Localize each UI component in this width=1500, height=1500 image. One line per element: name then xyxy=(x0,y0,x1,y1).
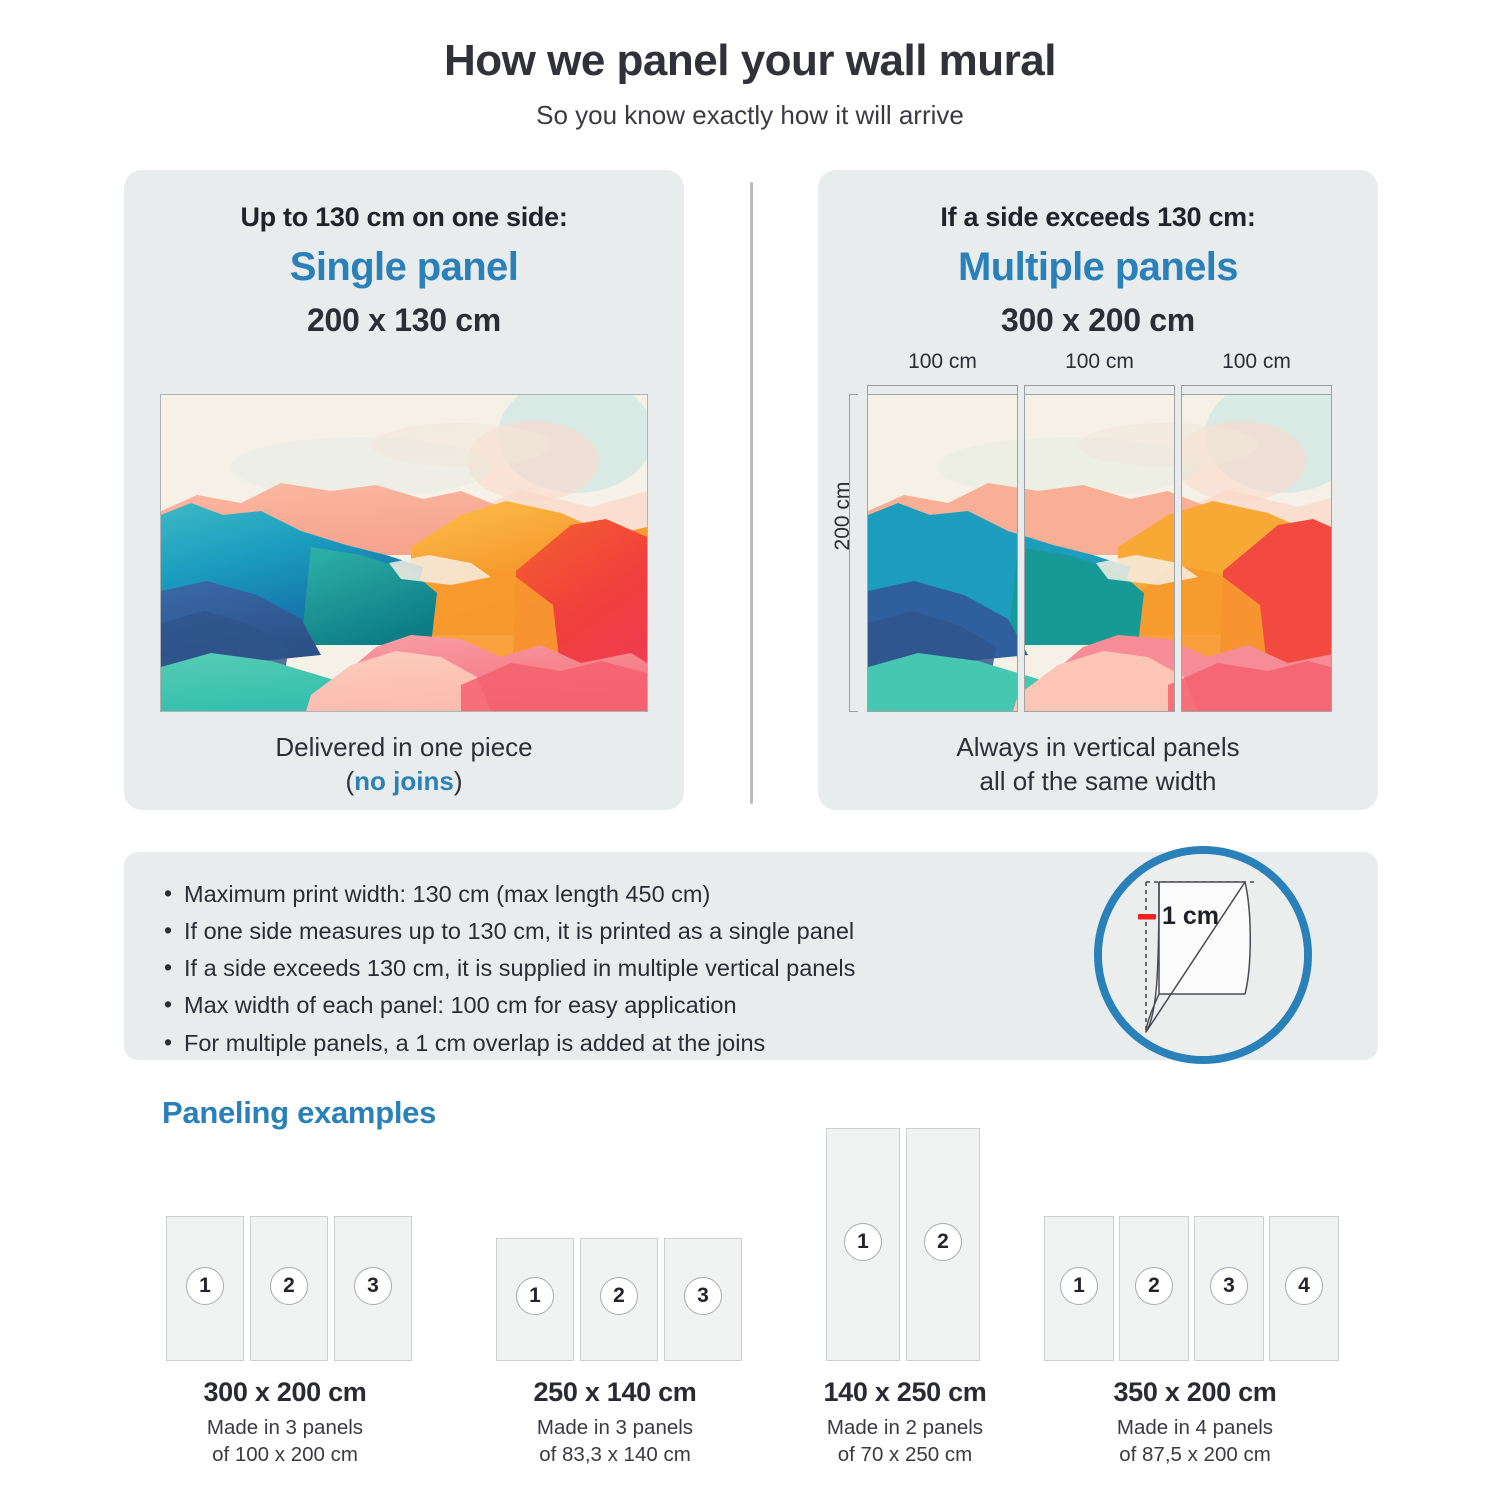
page-title: How we panel your wall mural xyxy=(0,36,1500,86)
mural-panel-2 xyxy=(1024,394,1175,712)
width-bracket-1 xyxy=(867,385,1018,394)
panel-number-badge: 2 xyxy=(924,1223,962,1261)
example-3-made-line1: Made in 2 panels xyxy=(827,1416,983,1439)
panel-number-badge: 2 xyxy=(600,1277,638,1315)
note-item: For multiple panels, a 1 cm overlap is a… xyxy=(160,1025,855,1062)
example-3-panels: 1 2 xyxy=(760,1128,1050,1361)
example-4-made-line2: of 87,5 x 200 cm xyxy=(1119,1443,1271,1466)
multi-panel-caption-line1: Always in vertical panels xyxy=(956,732,1239,762)
panel-number-badge: 1 xyxy=(1060,1267,1098,1305)
note-item: Maximum print width: 130 cm (max length … xyxy=(160,876,855,913)
width-label-3: 100 cm xyxy=(1181,350,1332,374)
width-label-1: 100 cm xyxy=(867,350,1018,374)
example-2-made-line1: Made in 3 panels xyxy=(537,1416,693,1439)
example-4-panel-1: 1 xyxy=(1044,1216,1114,1361)
multi-panel-accent-label: Multiple panels xyxy=(818,245,1378,290)
card-multiple-panels: If a side exceeds 130 cm: Multiple panel… xyxy=(818,170,1378,810)
mural-panel-3 xyxy=(1181,394,1332,712)
single-panel-caption: Delivered in one piece (no joins) xyxy=(124,730,684,799)
single-panel-caption-line1: Delivered in one piece xyxy=(275,732,532,762)
example-4-detail: Made in 4 panels of 87,5 x 200 cm xyxy=(1040,1414,1350,1469)
example-250x140: 1 2 3 250 x 140 cm Made in 3 panels of 8… xyxy=(470,1238,760,1469)
note-item: If one side measures up to 130 cm, it is… xyxy=(160,913,855,950)
example-1-panels: 1 2 3 xyxy=(140,1216,430,1361)
example-3-panel-2: 2 xyxy=(906,1128,980,1361)
mural-artwork-svg xyxy=(161,395,647,711)
panel-number-badge: 4 xyxy=(1285,1267,1323,1305)
caption-paren-close: ) xyxy=(454,766,463,796)
multi-panel-caption-line2: all of the same width xyxy=(979,766,1216,796)
example-4-panel-4: 4 xyxy=(1269,1216,1339,1361)
example-140x250: 1 2 140 x 250 cm Made in 2 panels of 70 … xyxy=(760,1128,1050,1469)
multi-panel-mural-group: 200 cm 100 cm 100 cm 100 cm xyxy=(867,394,1332,712)
panel-number-badge: 2 xyxy=(1135,1267,1173,1305)
panel-number-badge: 1 xyxy=(844,1223,882,1261)
example-4-panel-3: 3 xyxy=(1194,1216,1264,1361)
note-item: Max width of each panel: 100 cm for easy… xyxy=(160,987,855,1024)
example-2-panel-3: 3 xyxy=(664,1238,742,1361)
example-1-made-line1: Made in 3 panels xyxy=(207,1416,363,1439)
height-label: 200 cm xyxy=(831,466,855,566)
example-3-made-line2: of 70 x 250 cm xyxy=(838,1443,972,1466)
example-4-made-line1: Made in 4 panels xyxy=(1117,1416,1273,1439)
panel-number-badge: 2 xyxy=(270,1267,308,1305)
panel-number-badge: 3 xyxy=(1210,1267,1248,1305)
example-2-made-line2: of 83,3 x 140 cm xyxy=(539,1443,691,1466)
multi-panel-heading: If a side exceeds 130 cm: xyxy=(818,202,1378,233)
panel-number-badge: 1 xyxy=(186,1267,224,1305)
example-4-panel-2: 2 xyxy=(1119,1216,1189,1361)
overlap-label-text: 1 cm xyxy=(1162,902,1219,930)
example-2-panel-2: 2 xyxy=(580,1238,658,1361)
infographic-page: How we panel your wall mural So you know… xyxy=(0,0,1500,1500)
single-panel-heading: Up to 130 cm on one side: xyxy=(124,202,684,233)
overlap-illustration-svg: 1 cm xyxy=(1102,854,1304,1056)
example-2-panels: 1 2 3 xyxy=(470,1238,760,1361)
single-panel-accent-label: Single panel xyxy=(124,245,684,290)
example-3-size: 140 x 250 cm xyxy=(760,1377,1050,1408)
paneling-examples-title: Paneling examples xyxy=(162,1095,436,1131)
example-1-size: 300 x 200 cm xyxy=(140,1377,430,1408)
mural-panel-1 xyxy=(867,394,1018,712)
example-3-panel-1: 1 xyxy=(826,1128,900,1361)
example-350x200: 1 2 3 4 350 x 200 cm Made in 4 panels of… xyxy=(1040,1216,1350,1469)
example-2-size: 250 x 140 cm xyxy=(470,1377,760,1408)
example-1-made-line2: of 100 x 200 cm xyxy=(212,1443,358,1466)
example-2-detail: Made in 3 panels of 83,3 x 140 cm xyxy=(470,1414,760,1469)
page-subtitle: So you know exactly how it will arrive xyxy=(0,100,1500,131)
example-3-detail: Made in 2 panels of 70 x 250 cm xyxy=(760,1414,1050,1469)
example-1-panel-1: 1 xyxy=(166,1216,244,1361)
example-1-detail: Made in 3 panels of 100 x 200 cm xyxy=(140,1414,430,1469)
example-2-panel-1: 1 xyxy=(496,1238,574,1361)
multi-panel-caption: Always in vertical panels all of the sam… xyxy=(818,730,1378,799)
note-item: If a side exceeds 130 cm, it is supplied… xyxy=(160,950,855,987)
example-1-panel-3: 3 xyxy=(334,1216,412,1361)
panel-number-badge: 3 xyxy=(354,1267,392,1305)
card-single-panel: Up to 130 cm on one side: Single panel 2… xyxy=(124,170,684,810)
single-panel-dimensions: 200 x 130 cm xyxy=(124,302,684,339)
caption-paren-open: ( xyxy=(345,766,354,796)
panel-number-badge: 3 xyxy=(684,1277,722,1315)
example-1-panel-2: 2 xyxy=(250,1216,328,1361)
overlap-red-marker xyxy=(1138,914,1156,920)
width-bracket-2 xyxy=(1024,385,1175,394)
single-panel-mural-image xyxy=(160,394,648,712)
width-label-2: 100 cm xyxy=(1024,350,1175,374)
width-bracket-3 xyxy=(1181,385,1332,394)
example-300x200: 1 2 3 300 x 200 cm Made in 3 panels of 1… xyxy=(140,1216,430,1469)
single-panel-caption-highlight: no joins xyxy=(354,766,454,796)
example-4-panels: 1 2 3 4 xyxy=(1040,1216,1350,1361)
notes-list: Maximum print width: 130 cm (max length … xyxy=(160,876,855,1062)
card-divider xyxy=(750,182,753,804)
example-4-size: 350 x 200 cm xyxy=(1040,1377,1350,1408)
overlap-diagram: 1 cm xyxy=(1094,846,1312,1064)
multi-panel-dimensions: 300 x 200 cm xyxy=(818,302,1378,339)
panel-number-badge: 1 xyxy=(516,1277,554,1315)
